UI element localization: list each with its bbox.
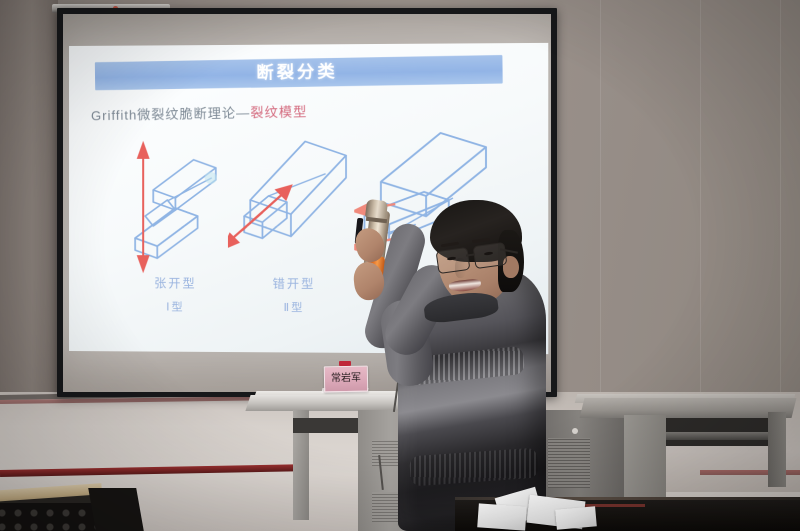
slide-subtitle: Griffith微裂纹脆断理论—裂纹模型 bbox=[91, 97, 530, 125]
speaker-nameplate: 常岩军 bbox=[324, 366, 368, 393]
desk-drawer-rail bbox=[666, 432, 774, 440]
right-desk-top bbox=[580, 398, 797, 418]
diagram-1-roman: Ⅰ型 bbox=[113, 298, 238, 315]
wall-seam bbox=[600, 0, 601, 400]
diagram-1-label: 张开型 bbox=[113, 274, 238, 292]
audience-chair-back bbox=[88, 488, 144, 531]
speaker-name: 常岩军 bbox=[325, 367, 367, 392]
slide-subtitle-accent: 裂纹模型 bbox=[250, 104, 307, 120]
podium-shelf bbox=[293, 418, 363, 433]
diagram-2-roman: Ⅱ型 bbox=[228, 299, 360, 316]
glasses-lens bbox=[473, 242, 508, 269]
right-desk-leg bbox=[768, 412, 786, 487]
diagram-mode-2 bbox=[228, 137, 360, 274]
nose bbox=[455, 258, 466, 278]
mode-1-svg bbox=[115, 138, 236, 274]
paper-sheet bbox=[555, 506, 597, 529]
cabinet-lock bbox=[572, 428, 578, 434]
wall-seam bbox=[780, 0, 781, 400]
lecture-hall-photo: 断裂分类 Griffith微裂纹脆断理论—裂纹模型 bbox=[0, 0, 800, 531]
left-wall-column bbox=[0, 0, 58, 400]
cabinet-vent bbox=[548, 438, 590, 488]
mode-2-svg bbox=[228, 137, 360, 274]
slide-title-bar: 断裂分类 bbox=[95, 55, 503, 90]
wall-seam bbox=[700, 0, 701, 400]
diagram-2-label: 错开型 bbox=[228, 275, 360, 293]
diagram-mode-1 bbox=[115, 138, 236, 274]
slide-title: 断裂分类 bbox=[95, 55, 503, 90]
slide-subtitle-prefix: Griffith微裂纹脆断理论— bbox=[91, 105, 251, 123]
paper-sheet bbox=[477, 503, 527, 530]
